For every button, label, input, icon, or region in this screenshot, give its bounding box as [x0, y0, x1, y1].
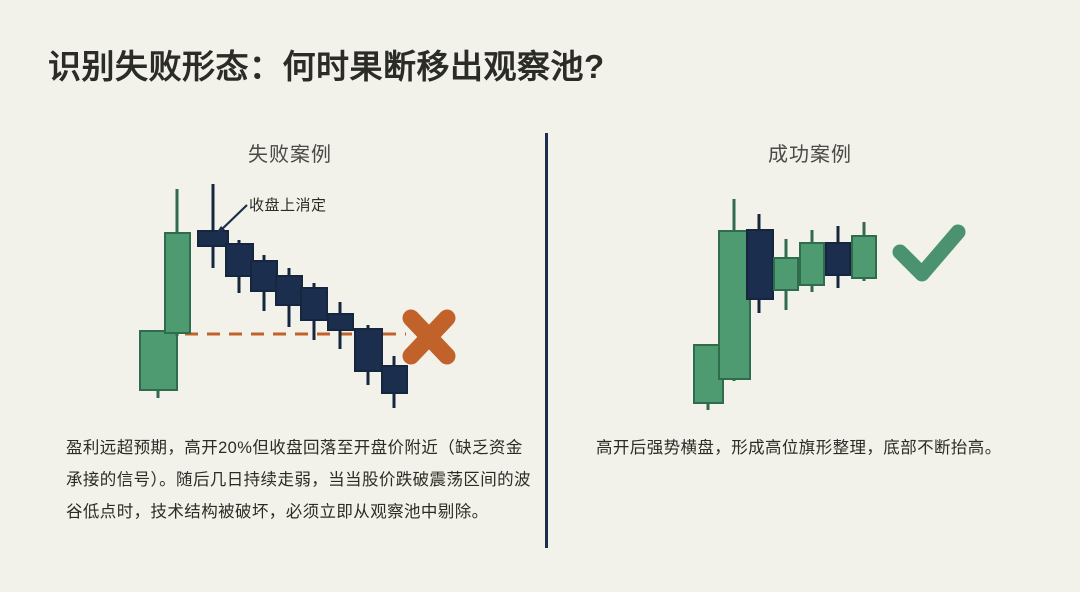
annotation-label-close-above: 收盘上消定	[249, 194, 327, 215]
slide-root: 识别失败形态：何时果断移出观察池? 失败案例	[0, 0, 1080, 592]
caption-success-case: 高开后强势横盘，形成高位旗形整理，底部不断抬高。	[596, 432, 1026, 464]
panel-divider	[545, 133, 548, 548]
panel-heading-success: 成功案例	[560, 138, 1080, 167]
caption-failure-case: 盈利远超预期，高开20%但收盘回落至开盘价附近（缺乏资金承接的信号）。随后几日持…	[66, 432, 536, 529]
panel-success-case: 成功案例	[560, 120, 1060, 560]
page-title: 识别失败形态：何时果断移出观察池?	[48, 40, 605, 88]
